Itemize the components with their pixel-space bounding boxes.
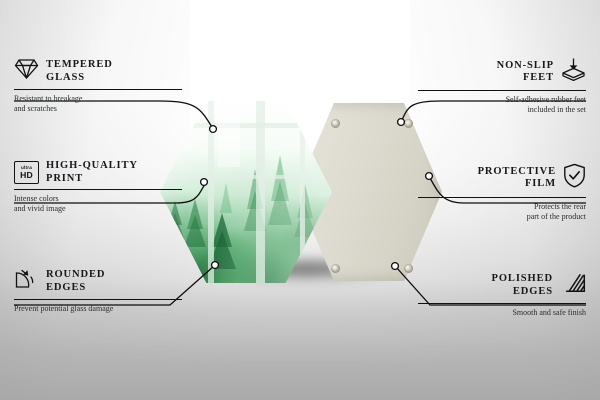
divider — [418, 90, 586, 91]
feature-title: ROUNDEDEDGES — [46, 269, 105, 294]
rounded-edges-icon — [14, 268, 39, 295]
feature-polished-edges[interactable]: POLISHEDEDGES Smooth and safe finish — [418, 272, 586, 318]
feature-protective-film[interactable]: PROTECTIVEFILM Protects the rearpart of … — [418, 163, 586, 222]
divider — [418, 197, 586, 198]
feature-description: Intense colorsand vivid image — [14, 194, 182, 214]
divider — [14, 299, 182, 300]
infographic-canvas: TEMPEREDGLASS Resistant to breakageand s… — [0, 0, 600, 400]
feature-title: HIGH-QUALITYPRINT — [46, 160, 138, 185]
ultra-hd-badge-icon: ultra HD — [14, 161, 39, 184]
feature-non-slip-feet[interactable]: NON-SLIPFEET Self-adhesive rubber feetin… — [418, 58, 586, 115]
feature-title: POLISHEDEDGES — [492, 273, 553, 298]
ultra-hd-large-label: HD — [20, 171, 33, 180]
non-slip-feet-icon — [561, 58, 586, 86]
feature-title: TEMPEREDGLASS — [46, 59, 113, 84]
feature-tempered-glass[interactable]: TEMPEREDGLASS Resistant to breakageand s… — [14, 58, 182, 114]
rubber-foot — [404, 119, 413, 128]
divider — [14, 189, 182, 190]
rubber-foot — [331, 264, 340, 273]
feature-description: Prevent potential glass damage — [14, 304, 182, 314]
feature-title: NON-SLIPFEET — [497, 60, 554, 85]
feature-rounded-edges[interactable]: ROUNDEDEDGES Prevent potential glass dam… — [14, 268, 182, 314]
rubber-foot — [331, 119, 340, 128]
feature-description: Resistant to breakageand scratches — [14, 94, 182, 114]
rubber-foot — [404, 264, 413, 273]
divider — [418, 303, 586, 304]
feature-description: Protects the rearpart of the product — [418, 202, 586, 222]
diamond-icon — [14, 58, 39, 85]
divider — [14, 89, 182, 90]
feature-high-quality-print[interactable]: ultra HD HIGH-QUALITYPRINT Intense color… — [14, 160, 182, 214]
feature-title: PROTECTIVEFILM — [478, 166, 556, 191]
shield-check-icon — [563, 163, 586, 193]
polished-edges-icon — [560, 272, 586, 299]
feature-description: Smooth and safe finish — [418, 308, 586, 318]
feature-description: Self-adhesive rubber feetincluded in the… — [418, 95, 586, 115]
